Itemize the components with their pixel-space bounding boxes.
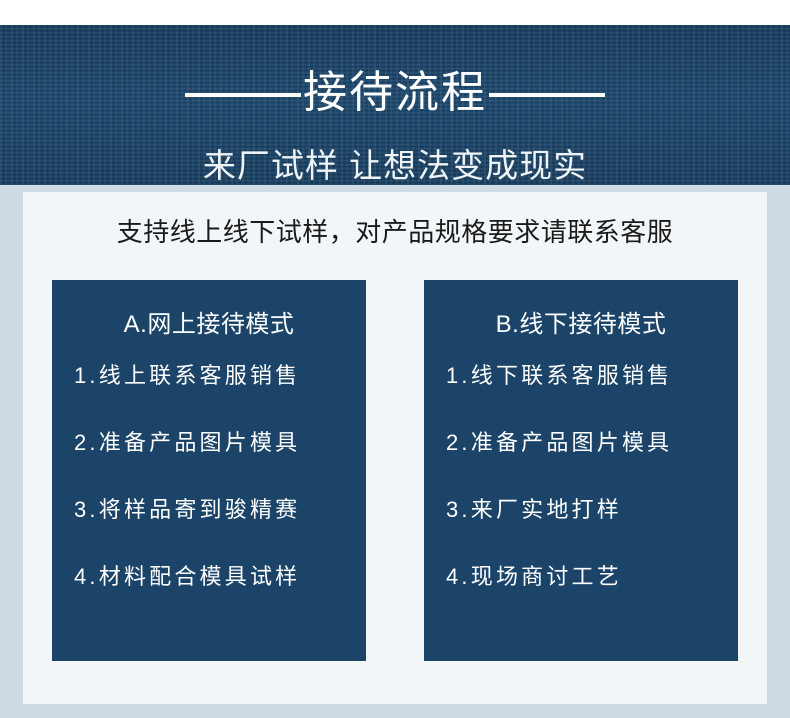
title-rule-left-icon xyxy=(185,93,301,97)
banner-title-row: 接待流程 xyxy=(0,67,790,123)
card-title: A.网上接待模式 xyxy=(52,308,366,342)
list-item: 4.材料配合模具试样 xyxy=(74,563,366,591)
header-banner: 接待流程 来厂试样 让想法变成现实 xyxy=(0,25,790,185)
list-item: 1.线下联系客服销售 xyxy=(446,362,738,390)
promo-page: 接待流程 来厂试样 让想法变成现实 支持线上线下试样，对产品规格要求请联系客服 … xyxy=(0,0,790,718)
card-step-list: 1.线下联系客服销售 2.准备产品图片模具 3.来厂实地打样 4.现场商讨工艺 xyxy=(424,362,738,591)
mode-cards: A.网上接待模式 1.线上联系客服销售 2.准备产品图片模具 3.将样品寄到骏精… xyxy=(52,280,738,661)
card-title: B.线下接待模式 xyxy=(424,308,738,342)
list-item: 3.来厂实地打样 xyxy=(446,496,738,524)
content-panel: 支持线上线下试样，对产品规格要求请联系客服 A.网上接待模式 1.线上联系客服销… xyxy=(23,192,767,704)
panel-heading: 支持线上线下试样，对产品规格要求请联系客服 xyxy=(23,215,767,249)
card-online-mode: A.网上接待模式 1.线上联系客服销售 2.准备产品图片模具 3.将样品寄到骏精… xyxy=(52,280,366,661)
list-item: 3.将样品寄到骏精赛 xyxy=(74,496,366,524)
card-step-list: 1.线上联系客服销售 2.准备产品图片模具 3.将样品寄到骏精赛 4.材料配合模… xyxy=(52,362,366,591)
title-rule-right-icon xyxy=(489,93,605,97)
list-item: 4.现场商讨工艺 xyxy=(446,563,738,591)
top-white-strip xyxy=(0,0,790,25)
list-item: 2.准备产品图片模具 xyxy=(446,429,738,457)
page-subtitle: 来厂试样 让想法变成现实 xyxy=(0,145,790,185)
page-title: 接待流程 xyxy=(301,67,489,119)
list-item: 2.准备产品图片模具 xyxy=(74,429,366,457)
card-offline-mode: B.线下接待模式 1.线下联系客服销售 2.准备产品图片模具 3.来厂实地打样 … xyxy=(424,280,738,661)
list-item: 1.线上联系客服销售 xyxy=(74,362,366,390)
